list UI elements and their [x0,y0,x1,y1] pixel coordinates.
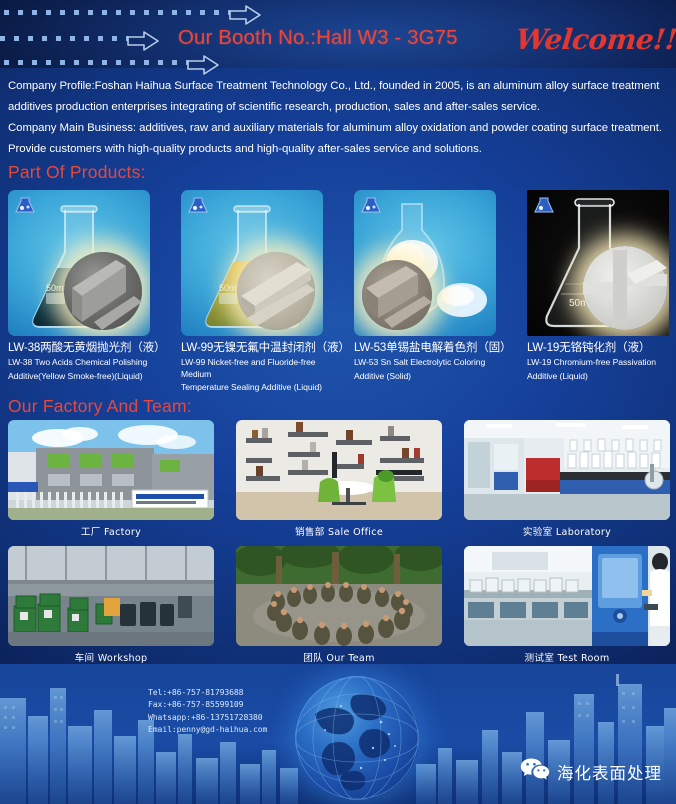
product-label: LW-99无镍无氟中温封闭剂（液） LW-99 Nicket-free and … [181,341,323,394]
zoom-detail-disc [64,252,142,330]
product-name-en: LW-19 Chromium-free Passivation [527,357,669,369]
dotted-line-2 [0,36,128,41]
product-photo: 50ml [8,190,150,336]
flask-watermark-icon [360,196,382,215]
product-name-en: LW-38 Two Acids Chemical Polishing [8,357,150,369]
facility-caption: 实验室 Laboratory [464,524,670,538]
products-grid: 50ml [8,190,670,390]
dotted-line-3 [4,60,188,65]
flask-watermark-icon [14,196,36,215]
product-name-en: LW-53 Sn Salt Electrolytic Coloring [354,357,496,369]
facility-photo [8,420,214,520]
product-name-en2: Additive(Yellow Smoke-free)(Liquid) [8,371,150,383]
facility-grid: 工厂 Factory [8,420,670,672]
wechat-badge: 海化表面处理 [520,757,662,786]
profile-line: Company Profile:Foshan Haihua Surface Tr… [8,76,672,97]
section-title-products: Part Of Products: [8,162,146,183]
header-banner: Our Booth No.:Hall W3 - 3G75 Welcome!!! [0,0,676,68]
facility-card: 实验室 Laboratory [464,420,670,538]
facility-card: 测试室 Test Room [464,546,670,664]
contact-tel: Tel:+86-757-81793688 [148,686,267,698]
contact-email: Email:penny@gd-haihua.com [148,723,267,735]
facility-card: 团队 Our Team [236,546,442,664]
product-photo [354,190,496,336]
facility-caption: 工厂 Factory [8,524,214,538]
product-name-en2: Additive (Liquid) [527,371,669,383]
dotted-line-1 [4,10,230,15]
company-profile: Company Profile:Foshan Haihua Surface Tr… [8,76,672,160]
profile-line: additives production enterprises integra… [8,97,672,118]
svg-text:50ml: 50ml [219,283,239,293]
facility-photo [236,420,442,520]
section-title-factory: Our Factory And Team: [8,396,192,417]
booth-number: Our Booth No.:Hall W3 - 3G75 [178,26,458,50]
contact-info: Tel:+86-757-81793688 Fax:+86-757-8559910… [148,686,267,736]
product-label: LW-38两酸无黄烟抛光剂（液） LW-38 Two Acids Chemica… [8,341,150,382]
product-photo: 50ml [527,190,669,336]
zoom-detail-disc [237,252,315,330]
facility-caption: 销售部 Sale Office [236,524,442,538]
profile-line: Company Main Business: additives, raw an… [8,118,672,139]
welcome-text: Welcome!!! [514,23,676,56]
facility-card: 车间 Workshop [8,546,214,664]
facility-caption: 车间 Workshop [8,650,214,664]
product-card: 50ml LW-19无铬钝 [527,190,669,382]
poster-root: Our Booth No.:Hall W3 - 3G75 Welcome!!! … [0,0,676,804]
zoom-detail-disc [583,246,667,330]
zoom-detail-disc [362,260,432,330]
product-name-cn: LW-53单锡盐电解着色剂（固） [354,341,496,355]
product-name-cn: LW-38两酸无黄烟抛光剂（液） [8,341,150,355]
product-name-en: LW-99 Nicket-free and Fluoride-free Medi… [181,357,323,380]
facility-card: 销售部 Sale Office [236,420,442,538]
facility-row: 车间 Workshop [8,546,670,667]
profile-line: Provide customers with high-quality prod… [8,139,672,160]
wechat-icon [520,757,550,786]
flask-watermark-icon [533,196,555,215]
product-card: LW-53单锡盐电解着色剂（固） LW-53 Sn Salt Electroly… [354,190,496,382]
product-label: LW-53单锡盐电解着色剂（固） LW-53 Sn Salt Electroly… [354,341,496,382]
product-card: 50ml [8,190,150,382]
svg-text:50ml: 50ml [46,283,66,293]
facility-caption: 团队 Our Team [236,650,442,664]
wechat-account-name: 海化表面处理 [557,760,662,784]
facility-photo [236,546,442,646]
product-label: LW-19无铬钝化剂（液） LW-19 Chromium-free Passiv… [527,341,669,382]
facility-caption: 测试室 Test Room [464,650,670,664]
product-card: 50ml [181,190,323,394]
facility-photo [464,546,670,646]
footer-banner: Tel:+86-757-81793688 Fax:+86-757-8559910… [0,664,676,804]
product-name-cn: LW-19无铬钝化剂（液） [527,341,669,355]
globe-icon [295,676,419,800]
product-name-cn: LW-99无镍无氟中温封闭剂（液） [181,341,323,355]
facility-photo [464,420,670,520]
facility-row: 工厂 Factory [8,420,670,541]
product-name-en2: Additive (Solid) [354,371,496,383]
facility-card: 工厂 Factory [8,420,214,538]
contact-fax: Fax:+86-757-85599109 [148,698,267,710]
product-photo: 50ml [181,190,323,336]
arrow-right-icon [124,28,166,56]
flask-watermark-icon [187,196,209,215]
product-name-en2: Temperature Sealing Additive (Liquid) [181,382,323,394]
facility-photo [8,546,214,646]
contact-whatsapp: Whatsapp:+86-13751728380 [148,711,267,723]
